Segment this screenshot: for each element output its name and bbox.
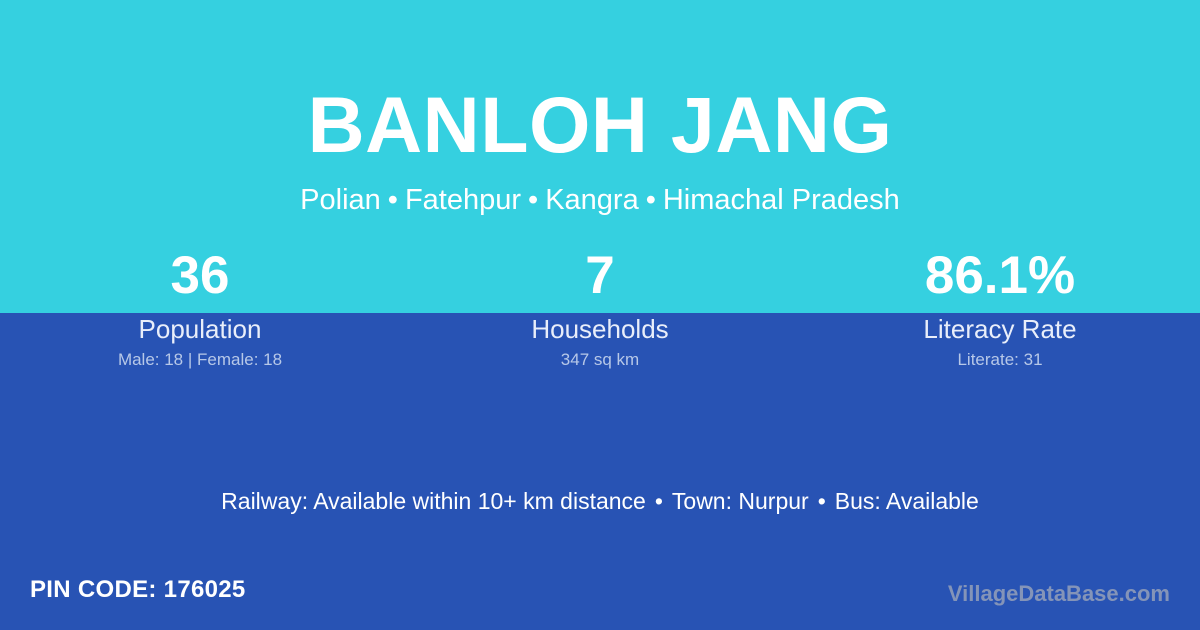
stat-value: 86.1% <box>800 246 1200 312</box>
stat-households: 7 Households 347 sq km <box>400 246 800 371</box>
village-info-card: BANLOH JANG Polian•Fatehpur•Kangra•Himac… <box>0 0 1200 630</box>
breadcrumb-item-state: Himachal Pradesh <box>663 184 900 216</box>
page-title: BANLOH JANG <box>0 79 1200 171</box>
breadcrumb-separator: • <box>639 184 663 216</box>
infrastructure-item-bus: Bus: Available <box>835 488 979 514</box>
breadcrumb-separator: • <box>381 184 405 216</box>
stats-row: 36 Population Male: 18 | Female: 18 7 Ho… <box>0 246 1200 371</box>
infrastructure-separator: • <box>809 488 835 514</box>
stat-value: 36 <box>0 246 400 312</box>
infrastructure-item-town: Town: Nurpur <box>672 488 809 514</box>
stat-sublabel: Male: 18 | Female: 18 <box>0 349 400 371</box>
stat-value: 7 <box>400 246 800 312</box>
breadcrumb-item-district: Kangra <box>545 184 639 216</box>
stat-sublabel: Literate: 31 <box>800 349 1200 371</box>
infrastructure-line: Railway: Available within 10+ km distanc… <box>0 487 1200 515</box>
pin-code: PIN CODE: 176025 <box>30 575 246 605</box>
stat-label: Literacy Rate <box>800 313 1200 345</box>
infrastructure-item-railway: Railway: Available within 10+ km distanc… <box>221 488 646 514</box>
breadcrumb-item-panchayat: Polian <box>300 184 381 216</box>
stat-label: Households <box>400 313 800 345</box>
stat-sublabel: 347 sq km <box>400 349 800 371</box>
stat-label: Population <box>0 313 400 345</box>
breadcrumb-item-block: Fatehpur <box>405 184 521 216</box>
stat-literacy-rate: 86.1% Literacy Rate Literate: 31 <box>800 246 1200 371</box>
breadcrumb-separator: • <box>521 184 545 216</box>
stat-population: 36 Population Male: 18 | Female: 18 <box>0 246 400 371</box>
site-branding: VillageDataBase.com <box>948 580 1170 608</box>
breadcrumb: Polian•Fatehpur•Kangra•Himachal Pradesh <box>0 182 1200 218</box>
card-footer: PIN CODE: 176025 VillageDataBase.com <box>0 572 1200 630</box>
infrastructure-separator: • <box>646 488 672 514</box>
